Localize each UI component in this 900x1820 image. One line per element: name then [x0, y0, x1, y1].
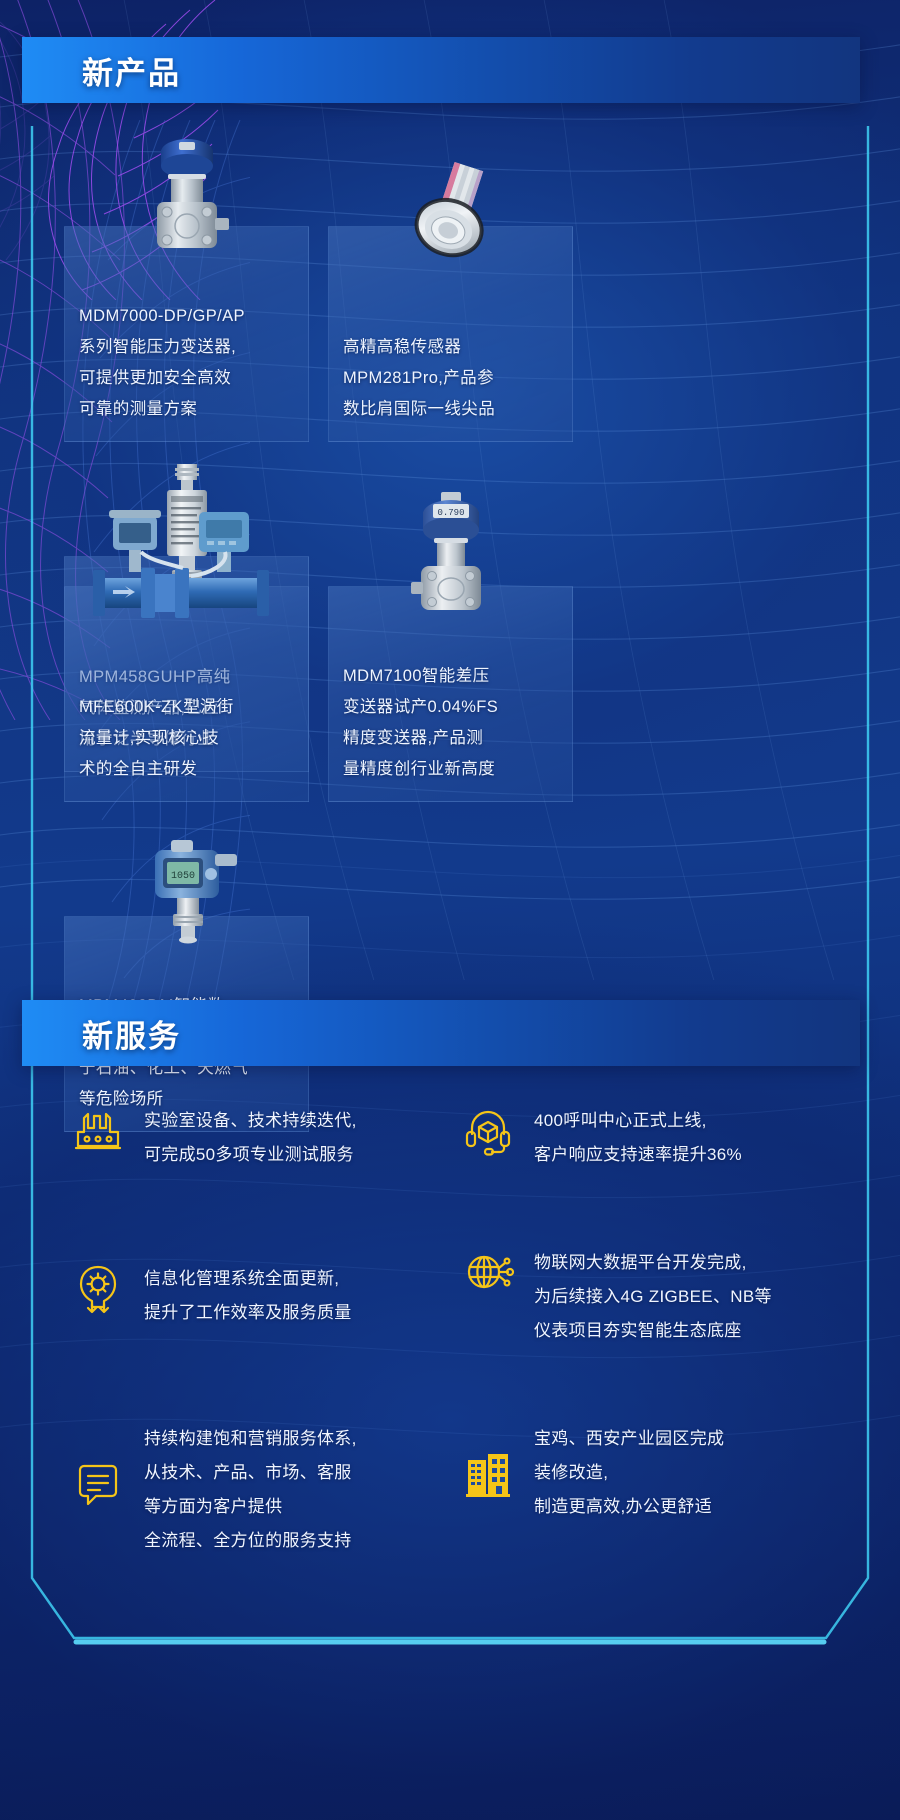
globe-network-icon	[460, 1244, 516, 1300]
services-list: 实验室设备、技术持续迭代, 可完成50多项专业测试服务	[22, 1088, 860, 1592]
service-item-lab-equipment[interactable]: 实验室设备、技术持续迭代, 可完成50多项专业测试服务	[22, 1088, 442, 1234]
service-description: 物联网大数据平台开发完成, 为后续接入4G ZIGBEE、NB等 仪表项目夯实智…	[534, 1244, 772, 1348]
service-item-marketing-system[interactable]: 持续构建饱和营销服务体系, 从技术、产品、市场、客服 等方面为客户提供 全流程、…	[22, 1412, 442, 1592]
service-description: 持续构建饱和营销服务体系, 从技术、产品、市场、客服 等方面为客户提供 全流程、…	[144, 1420, 357, 1558]
service-row-1: 实验室设备、技术持续迭代, 可完成50多项专业测试服务	[22, 1088, 860, 1234]
section-header-services: 新服务	[22, 1000, 860, 1066]
section-title-products: 新产品	[82, 48, 181, 93]
product-card-mdm7100[interactable]: 0.790 MDM7100智能差压 变送器试产0.04%FS 精度变送器,产品	[328, 490, 573, 820]
service-description: 400呼叫中心正式上线, 客户响应支持速率提升36%	[534, 1102, 742, 1172]
document-chat-icon	[70, 1456, 126, 1512]
service-item-industrial-park[interactable]: 宝鸡、西安产业园区完成 装修改造, 制造更高效,办公更舒适	[442, 1412, 860, 1592]
product-description: MDM7100智能差压 变送器试产0.04%FS 精度变送器,产品测 量精度创行…	[343, 661, 498, 785]
product-description: MFE600K-ZK型涡街 流量计,实现核心技 术的全自主研发	[79, 692, 234, 785]
gear-shield-icon	[70, 1260, 126, 1316]
service-item-call-center[interactable]: 400呼叫中心正式上线, 客户响应支持速率提升36%	[442, 1088, 860, 1234]
service-description: 信息化管理系统全面更新, 提升了工作效率及服务质量	[144, 1260, 352, 1330]
section-title-services: 新服务	[82, 1011, 181, 1056]
pressure-transmitter-icon	[64, 130, 309, 280]
svg-text:0.790: 0.790	[437, 508, 464, 518]
digital-pressure-transmitter-icon: 1050	[64, 820, 309, 970]
building-icon	[460, 1444, 516, 1500]
differential-pressure-transmitter-icon: 0.790	[328, 490, 573, 640]
section-header-products: 新产品	[22, 37, 860, 103]
headset-support-icon	[460, 1102, 516, 1158]
product-card-mdm7000[interactable]: MDM7000-DP/GP/AP 系列智能压力变送器, 可提供更加安全高效 可靠…	[64, 130, 309, 460]
poster-page: 新产品	[0, 0, 900, 1820]
product-card-mpm281pro[interactable]: 高精高稳传感器 MPM281Pro,产品参 数比肩国际一线尖品	[328, 130, 573, 460]
service-item-iot-platform[interactable]: 物联网大数据平台开发完成, 为后续接入4G ZIGBEE、NB等 仪表项目夯实智…	[442, 1234, 860, 1412]
product-description: 高精高稳传感器 MPM281Pro,产品参 数比肩国际一线尖品	[343, 332, 495, 425]
service-item-info-system[interactable]: 信息化管理系统全面更新, 提升了工作效率及服务质量	[22, 1234, 442, 1412]
product-description: MDM7000-DP/GP/AP 系列智能压力变送器, 可提供更加安全高效 可靠…	[79, 301, 245, 425]
svg-text:1050: 1050	[170, 871, 194, 882]
service-row-2: 信息化管理系统全面更新, 提升了工作效率及服务质量	[22, 1234, 860, 1412]
pressure-sensor-icon	[328, 130, 573, 280]
vortex-flowmeter-icon	[64, 490, 309, 640]
service-row-3: 持续构建饱和营销服务体系, 从技术、产品、市场、客服 等方面为客户提供 全流程、…	[22, 1412, 860, 1592]
service-description: 实验室设备、技术持续迭代, 可完成50多项专业测试服务	[144, 1102, 357, 1172]
product-card-mfe600k-zk[interactable]: MFE600K-ZK型涡街 流量计,实现核心技 术的全自主研发	[64, 490, 309, 820]
service-description: 宝鸡、西安产业园区完成 装修改造, 制造更高效,办公更舒适	[534, 1420, 724, 1524]
factory-lab-icon	[70, 1102, 126, 1158]
